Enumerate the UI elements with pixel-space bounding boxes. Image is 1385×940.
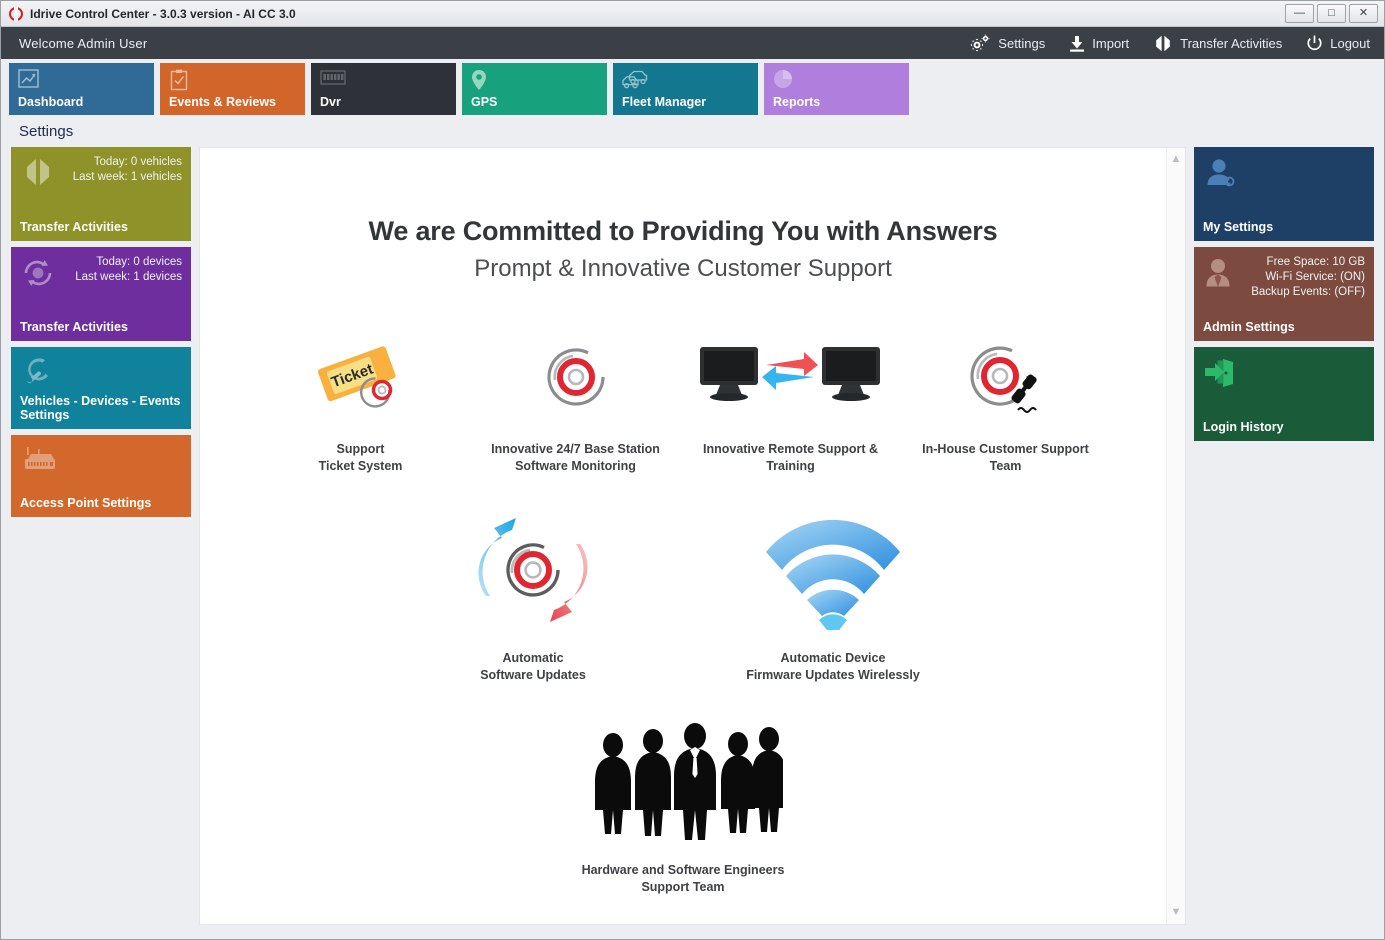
menu-item-transfer-label: Transfer Activities: [1180, 36, 1282, 51]
feature-caption: Innovative Remote Support & Training: [703, 441, 878, 476]
refresh-target-icon: [468, 506, 598, 634]
tab-dashboard[interactable]: Dashboard: [9, 63, 154, 115]
feature-grid-row-1: Ticket Support Ticket System: [200, 283, 1166, 476]
tab-events-reviews[interactable]: Events & Reviews: [160, 63, 305, 115]
tab-gps-label: GPS: [471, 95, 497, 109]
support-ticket-icon: Ticket: [311, 329, 411, 425]
title-bar: Idrive Control Center - 3.0.3 version - …: [1, 1, 1384, 27]
target-rings-icon: [533, 329, 619, 425]
two-monitors-arrows-icon: [696, 329, 886, 425]
tile-transfer-activities-devices[interactable]: Today: 0 devices Last week: 1 devices Tr…: [11, 247, 191, 341]
menu-item-settings[interactable]: Settings: [969, 34, 1045, 52]
scroll-down-arrow-icon[interactable]: ▼: [1171, 907, 1182, 918]
menu-item-settings-label: Settings: [998, 36, 1045, 51]
tab-dvr-label: Dvr: [320, 95, 341, 109]
tab-dvr[interactable]: Dvr: [311, 63, 456, 115]
tile-transfer-activities-vehicles[interactable]: Today: 0 vehicles Last week: 1 vehicles …: [11, 147, 191, 241]
chart-trend-icon: [18, 69, 40, 94]
tile-vehicles-devices-events-settings[interactable]: Vehicles - Devices - Events Settings: [11, 347, 191, 429]
close-button[interactable]: ✕: [1349, 4, 1378, 23]
tab-events-reviews-label: Events & Reviews: [169, 95, 276, 109]
tile-title: Login History: [1203, 420, 1365, 434]
menu-item-import[interactable]: Import: [1069, 35, 1129, 52]
login-door-icon: [1204, 357, 1236, 392]
router-icon: [21, 445, 61, 480]
feature-caption: Automatic Software Updates: [480, 650, 586, 685]
transfer-arrows-icon: [21, 157, 55, 192]
tab-reports-label: Reports: [773, 95, 820, 109]
feature-caption: Hardware and Software Engineers Support …: [582, 862, 785, 897]
left-sidebar: Today: 0 vehicles Last week: 1 vehicles …: [11, 147, 191, 925]
feature-engineers-support-team: Hardware and Software Engineers Support …: [533, 718, 833, 897]
vertical-scrollbar[interactable]: ▲ ▼: [1166, 148, 1185, 924]
content-headline-block: We are Committed to Providing You with A…: [200, 148, 1166, 283]
menu-actions: Settings Import: [969, 34, 1370, 52]
feature-support-ticket-system: Ticket Support Ticket System: [253, 329, 468, 476]
sync-circle-icon: [21, 257, 55, 294]
tab-fleet-manager[interactable]: Fleet Manager: [613, 63, 758, 115]
gears-icon: [969, 34, 991, 52]
tile-title: Vehicles - Devices - Events Settings: [20, 394, 182, 422]
tile-admin-settings[interactable]: Free Space: 10 GB Wi-Fi Service: (ON) Ba…: [1194, 247, 1374, 341]
download-icon: [1069, 35, 1085, 52]
application-window: Idrive Control Center - 3.0.3 version - …: [0, 0, 1385, 940]
window-title: Idrive Control Center - 3.0.3 version - …: [30, 7, 296, 21]
feature-caption: Innovative 24/7 Base Station Software Mo…: [491, 441, 660, 476]
tile-title: Transfer Activities: [20, 220, 182, 234]
tile-title: Access Point Settings: [20, 496, 182, 510]
menu-item-import-label: Import: [1092, 36, 1129, 51]
tab-dashboard-label: Dashboard: [18, 95, 83, 109]
tab-gps[interactable]: GPS: [462, 63, 607, 115]
tile-login-history[interactable]: Login History: [1194, 347, 1374, 441]
feature-in-house-support-team: In-House Customer Support Team: [898, 329, 1113, 476]
tile-access-point-settings[interactable]: Access Point Settings: [11, 435, 191, 517]
maximize-button[interactable]: □: [1317, 4, 1346, 23]
tile-title: Transfer Activities: [20, 320, 182, 334]
tile-title: Admin Settings: [1203, 320, 1365, 334]
clipboard-check-icon: [169, 69, 189, 96]
welcome-label: Welcome Admin User: [19, 36, 147, 51]
tile-title: My Settings: [1203, 220, 1365, 234]
wrench-icon: [21, 357, 55, 394]
tile-my-settings[interactable]: My Settings: [1194, 147, 1374, 241]
main-scroll-region: We are Committed to Providing You with A…: [200, 148, 1166, 924]
feature-remote-support-training: Innovative Remote Support & Training: [683, 329, 898, 476]
feature-grid-row-2: Automatic Software Updates: [200, 476, 1166, 897]
breadcrumb: Settings: [1, 115, 1384, 147]
body-area: Today: 0 vehicles Last week: 1 vehicles …: [1, 147, 1384, 939]
window-controls: — □ ✕: [1285, 4, 1378, 23]
menu-item-transfer-activities[interactable]: Transfer Activities: [1153, 35, 1282, 52]
pie-chart-icon: [773, 69, 794, 95]
scroll-up-arrow-icon[interactable]: ▲: [1171, 154, 1182, 165]
power-icon: [1306, 35, 1323, 52]
user-gear-icon: [1204, 157, 1236, 194]
target-phone-icon: [956, 329, 1056, 425]
feature-caption: Support Ticket System: [319, 441, 403, 476]
page-title: We are Committed to Providing You with A…: [200, 216, 1166, 247]
feature-automatic-software-updates: Automatic Software Updates: [383, 506, 683, 685]
app-logo-icon: [9, 7, 23, 21]
main-nav-tabs: Dashboard Events & Reviews Dvr GPS Fleet: [1, 59, 1384, 115]
feature-caption: In-House Customer Support Team: [922, 441, 1089, 476]
dvr-device-icon: [320, 69, 346, 91]
feature-caption: Automatic Device Firmware Updates Wirele…: [746, 650, 920, 685]
main-content-panel: We are Committed to Providing You with A…: [199, 147, 1186, 925]
minimize-button[interactable]: —: [1285, 4, 1314, 23]
wifi-signal-icon: [758, 506, 908, 634]
feature-firmware-updates-wireless: Automatic Device Firmware Updates Wirele…: [683, 506, 983, 685]
menu-item-logout[interactable]: Logout: [1306, 35, 1370, 52]
admin-user-icon: [1204, 257, 1234, 294]
tab-fleet-manager-label: Fleet Manager: [622, 95, 706, 109]
breadcrumb-label: Settings: [19, 123, 73, 140]
right-sidebar: My Settings Free Space: 10 GB Wi-Fi Serv…: [1194, 147, 1374, 925]
cars-icon: [622, 69, 648, 94]
transfer-arrows-icon: [1153, 35, 1173, 52]
feature-base-station-monitoring: Innovative 24/7 Base Station Software Mo…: [468, 329, 683, 476]
people-silhouette-icon: [583, 718, 783, 846]
tab-reports[interactable]: Reports: [764, 63, 909, 115]
menu-bar: Welcome Admin User Settings: [1, 27, 1384, 59]
menu-item-logout-label: Logout: [1330, 36, 1370, 51]
page-subtitle: Prompt & Innovative Customer Support: [200, 255, 1166, 283]
map-pin-icon: [471, 69, 487, 96]
